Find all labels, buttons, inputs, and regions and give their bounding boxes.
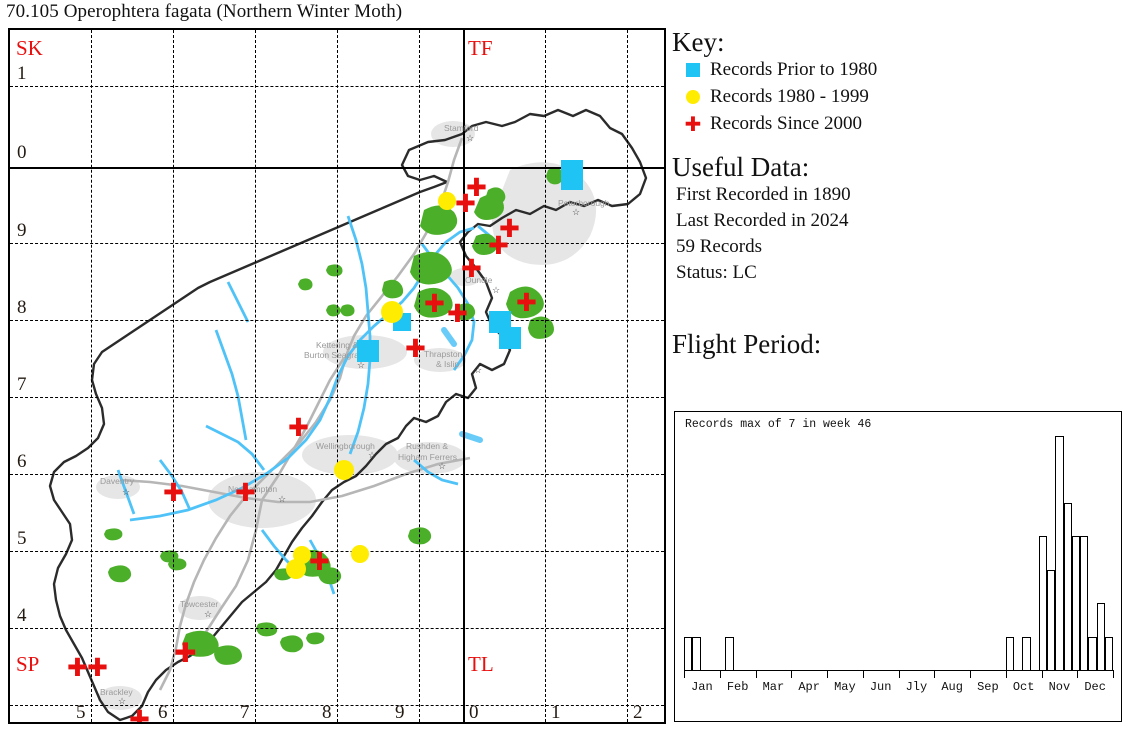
record-marker-since2000: ✚ <box>447 301 468 326</box>
place-label-daventry: Daventry <box>100 476 134 486</box>
map-gridline-v2 <box>173 30 174 722</box>
key-item-pre1980: Records Prior to 1980 <box>680 56 1122 83</box>
chart-bar <box>1055 436 1063 670</box>
grid-square-label-sp: SP <box>16 652 39 677</box>
chart-bar <box>1047 570 1055 670</box>
place-label-islip: & Islip <box>436 359 459 369</box>
map-x-label-6: 6 <box>158 702 168 724</box>
record-marker-since2000: ✚ <box>455 191 476 216</box>
grid-square-label-tl: TL <box>468 652 494 677</box>
key-label-since2000: Records Since 2000 <box>710 113 862 135</box>
map-gridline-v6 <box>545 30 546 722</box>
place-label-thrapston: Thrapston <box>424 349 462 359</box>
chart-month-label: May <box>827 680 863 694</box>
records-count-text: 59 Records <box>676 234 1122 260</box>
town-star-icon: ☆ <box>122 488 130 497</box>
grid-square-label-tf: TF <box>468 36 493 61</box>
chart-bar <box>1097 603 1105 670</box>
map-gridline-h8 <box>10 705 664 706</box>
place-label-kettering: Kettering & <box>316 340 358 350</box>
chart-bar <box>1039 536 1047 670</box>
record-marker-since2000: ✚ <box>461 256 482 281</box>
record-marker-since2000: ✚ <box>129 707 150 724</box>
map-gridline-h6 <box>10 551 664 552</box>
chart-tick <box>1042 670 1043 678</box>
record-marker-since2000: ✚ <box>488 233 509 258</box>
record-marker-since2000: ✚ <box>405 336 426 361</box>
flight-period-chart[interactable]: Records max of 7 in week 46 JanFebMarApr… <box>674 411 1122 722</box>
map-y-label-5: 5 <box>17 528 27 550</box>
useful-data-heading: Useful Data: <box>672 153 1122 181</box>
chart-month-label: Oct <box>1006 680 1042 694</box>
map-gridline-h4 <box>10 397 664 398</box>
map-x-label-9: 9 <box>395 702 405 724</box>
map-x-label-2: 2 <box>633 702 643 724</box>
chart-tick <box>970 670 971 678</box>
place-label-stamford: Stamford <box>444 123 479 133</box>
map-y-label-7: 7 <box>17 374 27 396</box>
record-marker-pre1980 <box>499 327 521 349</box>
chart-annotation: Records max of 7 in week 46 <box>685 418 871 431</box>
town-star-icon: ☆ <box>278 495 286 504</box>
map-gridline-h2 <box>10 243 664 244</box>
map-y-label-4: 4 <box>17 605 27 627</box>
place-label-peterborough: Peterborough <box>558 198 610 208</box>
chart-month-label: Feb <box>720 680 756 694</box>
record-marker-1980-1999 <box>438 192 456 210</box>
town-star-icon: ☆ <box>368 451 376 460</box>
record-marker-1980-1999 <box>334 460 354 480</box>
flight-period-heading: Flight Period: <box>672 330 1122 358</box>
chart-tick <box>1077 670 1078 678</box>
chart-tick <box>899 670 900 678</box>
square-marker-icon <box>680 63 706 77</box>
chart-tick <box>1113 670 1114 678</box>
first-recorded-text: First Recorded in 1890 <box>676 182 1122 208</box>
place-label-towcester: Towcester <box>180 599 218 609</box>
chart-tick <box>756 670 757 678</box>
place-label-higham-ferrers: Higham Ferrers <box>398 452 457 462</box>
key-label-pre1980: Records Prior to 1980 <box>710 59 877 81</box>
map-canvas: SK TF SP TL 1 0 9 8 7 6 5 4 5 6 7 8 9 0 … <box>10 30 664 722</box>
map-gridline-v7 <box>627 30 628 722</box>
chart-bar <box>1006 637 1014 670</box>
map-gridline-h3 <box>10 320 664 321</box>
chart-bar <box>1064 503 1072 670</box>
record-marker-1980-1999 <box>381 301 403 323</box>
place-label-rushden: Rushden & <box>406 441 448 451</box>
chart-month-label: Sep <box>970 680 1006 694</box>
record-marker-since2000: ✚ <box>67 655 88 680</box>
map-x-label-1: 1 <box>551 702 561 724</box>
map-y-label-8: 8 <box>17 297 27 319</box>
chart-bar <box>1088 637 1096 670</box>
map-y-label-1: 1 <box>17 63 27 85</box>
map-gridline-v3 <box>255 30 256 722</box>
species-distribution-page: 70.105 Operophtera fagata (Northern Wint… <box>0 0 1130 733</box>
chart-month-label: Jan <box>684 680 720 694</box>
chart-month-label: Nov <box>1042 680 1078 694</box>
chart-tick <box>934 670 935 678</box>
record-marker-1980-1999 <box>351 545 369 563</box>
chart-bar <box>1080 536 1088 670</box>
map-gridline-h7 <box>10 628 664 629</box>
map-x-label-8: 8 <box>322 702 332 724</box>
chart-bar <box>1105 637 1113 670</box>
map-x-label-5: 5 <box>76 702 86 724</box>
map-gridline-sk-tf-boundary <box>463 30 465 722</box>
chart-bar <box>1072 536 1080 670</box>
chart-month-label: Aug <box>934 680 970 694</box>
town-star-icon: ☆ <box>466 134 474 143</box>
chart-tick <box>827 670 828 678</box>
circle-marker-icon <box>680 90 706 104</box>
chart-bar <box>684 637 692 670</box>
record-marker-since2000: ✚ <box>87 655 108 680</box>
status-text: Status: LC <box>676 260 1122 286</box>
town-star-icon: ☆ <box>492 286 500 295</box>
record-marker-since2000: ✚ <box>235 480 256 505</box>
key-item-1980-1999: Records 1980 - 1999 <box>680 83 1122 110</box>
map-y-label-9: 9 <box>17 220 27 242</box>
place-label-brackley: Brackley <box>100 687 133 697</box>
town-star-icon: ☆ <box>118 697 126 706</box>
distribution-map[interactable]: SK TF SP TL 1 0 9 8 7 6 5 4 5 6 7 8 9 0 … <box>8 28 666 724</box>
record-marker-since2000: ✚ <box>163 480 184 505</box>
map-gridline-v5 <box>419 30 420 722</box>
chart-bar <box>725 637 733 670</box>
chart-bar <box>692 637 700 670</box>
plus-marker-icon: ✚ <box>680 114 706 134</box>
town-star-icon: ☆ <box>438 462 446 471</box>
page-title: 70.105 Operophtera fagata (Northern Wint… <box>6 1 402 23</box>
record-marker-pre1980 <box>357 340 379 362</box>
chart-tick <box>791 670 792 678</box>
town-star-icon: ☆ <box>357 361 365 370</box>
chart-tick <box>863 670 864 678</box>
key-label-1980-1999: Records 1980 - 1999 <box>710 86 869 108</box>
place-label-wellingborough: Wellingborough <box>316 441 375 451</box>
key-item-since2000: ✚ Records Since 2000 <box>680 110 1122 137</box>
chart-tick <box>1006 670 1007 678</box>
record-marker-since2000: ✚ <box>516 290 537 315</box>
record-marker-since2000: ✚ <box>174 640 197 667</box>
map-y-label-0: 0 <box>17 142 27 164</box>
map-x-label-7: 7 <box>240 702 250 724</box>
chart-month-label: Jun <box>863 680 899 694</box>
key-heading: Key: <box>672 28 1122 56</box>
chart-month-label: Jly <box>899 680 935 694</box>
chart-plot-area <box>684 436 1113 670</box>
town-star-icon: ☆ <box>572 208 580 217</box>
chart-tick <box>684 670 685 678</box>
record-marker-since2000: ✚ <box>309 549 330 574</box>
last-recorded-text: Last Recorded in 2024 <box>676 208 1122 234</box>
map-gridline-h1 <box>10 86 664 87</box>
map-x-label-0: 0 <box>469 702 479 724</box>
grid-square-label-sk: SK <box>16 36 43 61</box>
town-star-icon: ☆ <box>474 366 482 375</box>
town-star-icon: ☆ <box>204 610 212 619</box>
chart-month-label: Dec <box>1077 680 1113 694</box>
map-y-label-6: 6 <box>17 451 27 473</box>
chart-bar <box>1022 637 1030 670</box>
map-gridline-v1 <box>91 30 92 722</box>
chart-tick <box>720 670 721 678</box>
chart-month-label: Mar <box>756 680 792 694</box>
record-marker-since2000: ✚ <box>288 415 309 440</box>
record-marker-since2000: ✚ <box>424 291 445 316</box>
chart-month-label: Apr <box>791 680 827 694</box>
record-marker-pre1980 <box>561 160 583 190</box>
map-gridline-v4 <box>337 30 338 722</box>
